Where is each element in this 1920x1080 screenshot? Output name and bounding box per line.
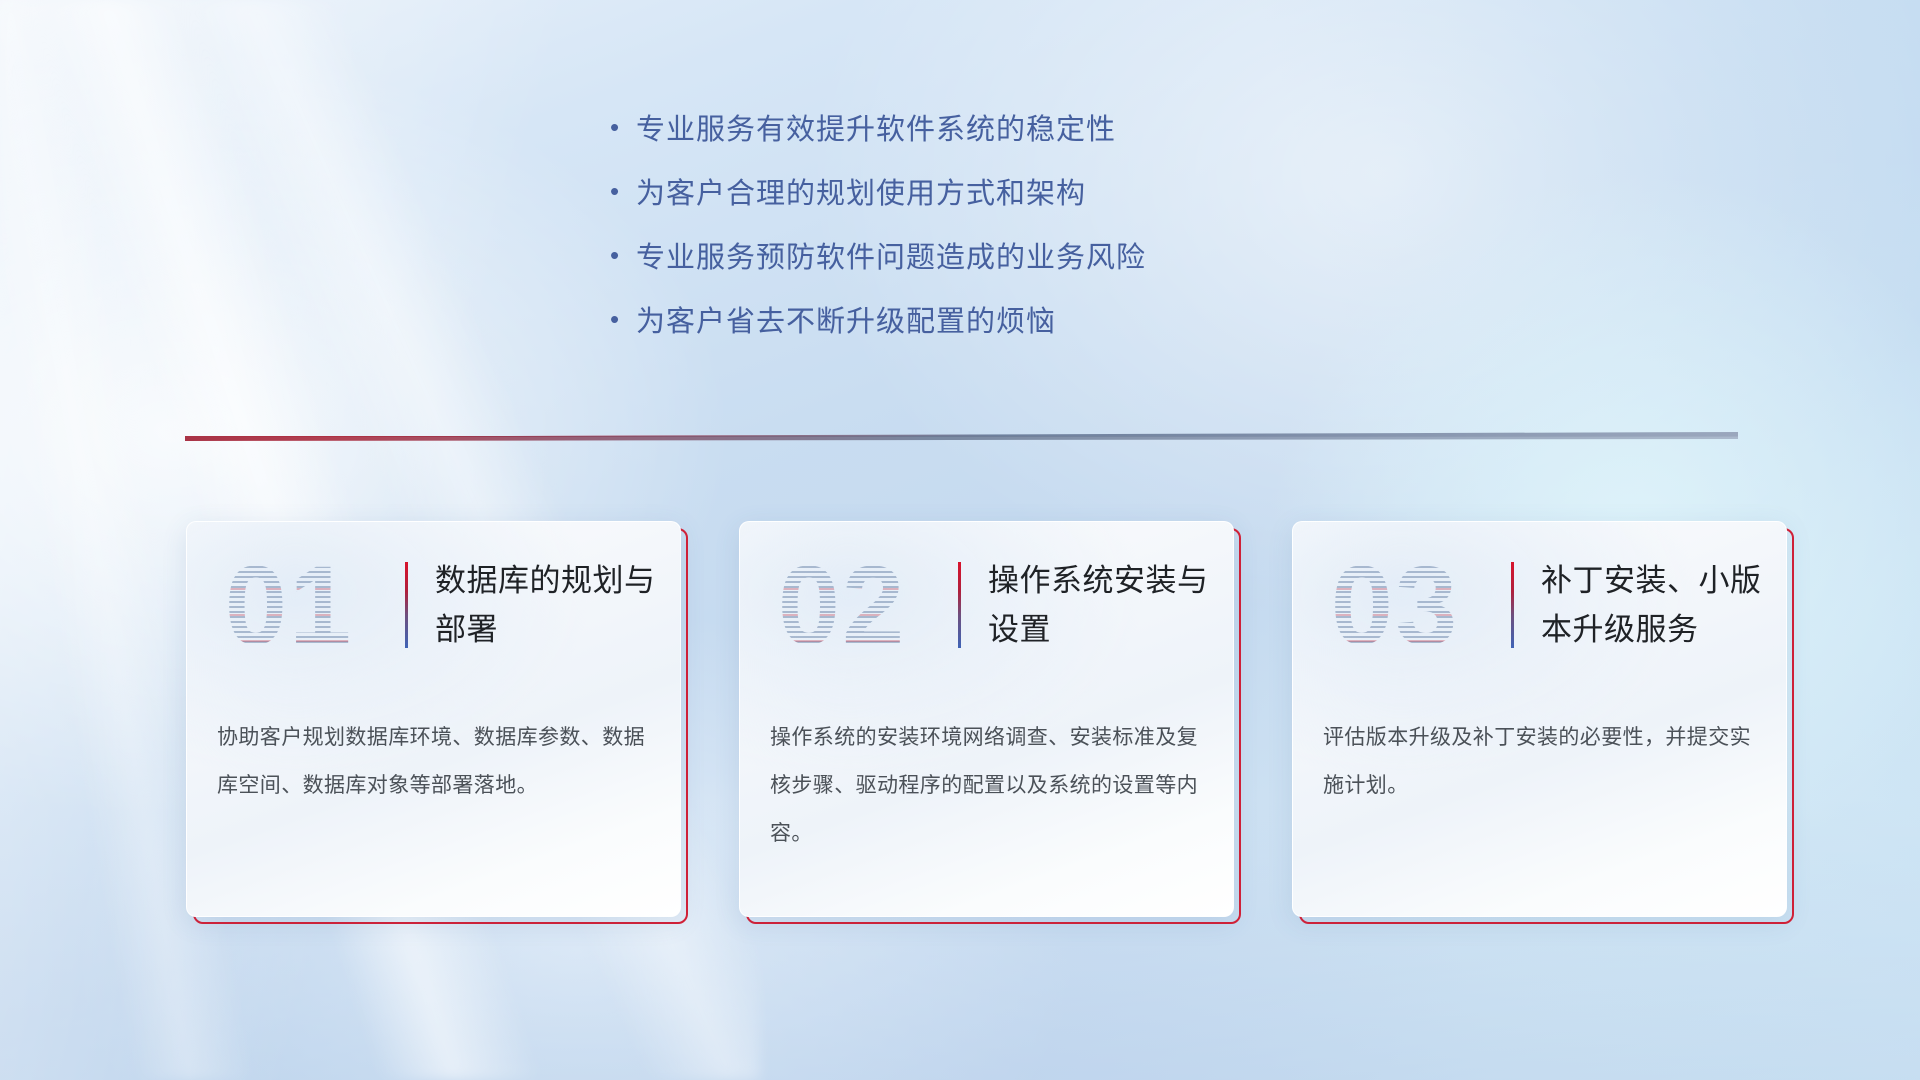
bullet-text: 专业服务有效提升软件系统的稳定性 <box>636 106 1116 148</box>
card-header: 01 01 数据库的规划与部署 <box>187 522 680 694</box>
service-card-02[interactable]: 02 02 操作系统安装与设置 操作系统的安装环境网络调查、安装标准及复核步骤、… <box>739 521 1234 917</box>
card-body-text: 协助客户规划数据库环境、数据库参数、数据库空间、数据库对象等部署落地。 <box>217 714 653 810</box>
card-title-divider-icon <box>1511 562 1514 648</box>
card-watermark-number-accent: 02 <box>762 544 922 668</box>
list-item: • 专业服务预防软件问题造成的业务风险 <box>610 223 1310 287</box>
divider-lower-stroke <box>185 436 1738 441</box>
bullet-dot-icon: • <box>610 114 636 140</box>
list-item: • 为客户省去不断升级配置的烦恼 <box>610 287 1310 351</box>
card-title: 数据库的规划与部署 <box>435 556 667 654</box>
card-body-text: 评估版本升级及补丁安装的必要性，并提交实施计划。 <box>1323 714 1759 810</box>
card-watermark-number-accent: 01 <box>209 544 369 668</box>
card-watermark-number-accent: 03 <box>1315 544 1475 668</box>
list-item: • 专业服务有效提升软件系统的稳定性 <box>610 95 1310 159</box>
card-title: 操作系统安装与设置 <box>988 556 1220 654</box>
card-title-divider-icon <box>405 562 408 648</box>
card-surface: 01 01 数据库的规划与部署 协助客户规划数据库环境、数据库参数、数据库空间、… <box>186 521 681 917</box>
bullet-text: 为客户省去不断升级配置的烦恼 <box>636 298 1056 340</box>
bullet-text: 专业服务预防软件问题造成的业务风险 <box>636 234 1146 276</box>
card-title: 补丁安装、小版本升级服务 <box>1541 556 1773 654</box>
card-header: 03 03 补丁安装、小版本升级服务 <box>1293 522 1786 694</box>
service-card-03[interactable]: 03 03 补丁安装、小版本升级服务 评估版本升级及补丁安装的必要性，并提交实施… <box>1292 521 1787 917</box>
list-item: • 为客户合理的规划使用方式和架构 <box>610 159 1310 223</box>
section-divider <box>185 432 1738 441</box>
card-title-divider-icon <box>958 562 961 648</box>
card-surface: 03 03 补丁安装、小版本升级服务 评估版本升级及补丁安装的必要性，并提交实施… <box>1292 521 1787 917</box>
service-card-01[interactable]: 01 01 数据库的规划与部署 协助客户规划数据库环境、数据库参数、数据库空间、… <box>186 521 681 917</box>
bullet-text: 为客户合理的规划使用方式和架构 <box>636 170 1086 212</box>
card-surface: 02 02 操作系统安装与设置 操作系统的安装环境网络调查、安装标准及复核步骤、… <box>739 521 1234 917</box>
bullet-dot-icon: • <box>610 306 636 332</box>
card-body-text: 操作系统的安装环境网络调查、安装标准及复核步骤、驱动程序的配置以及系统的设置等内… <box>770 714 1206 858</box>
service-card-list: 01 01 数据库的规划与部署 协助客户规划数据库环境、数据库参数、数据库空间、… <box>186 521 1787 917</box>
card-header: 02 02 操作系统安装与设置 <box>740 522 1233 694</box>
bullet-dot-icon: • <box>610 178 636 204</box>
bullet-dot-icon: • <box>610 242 636 268</box>
benefits-bullet-list: • 专业服务有效提升软件系统的稳定性 • 为客户合理的规划使用方式和架构 • 专… <box>0 95 1920 351</box>
